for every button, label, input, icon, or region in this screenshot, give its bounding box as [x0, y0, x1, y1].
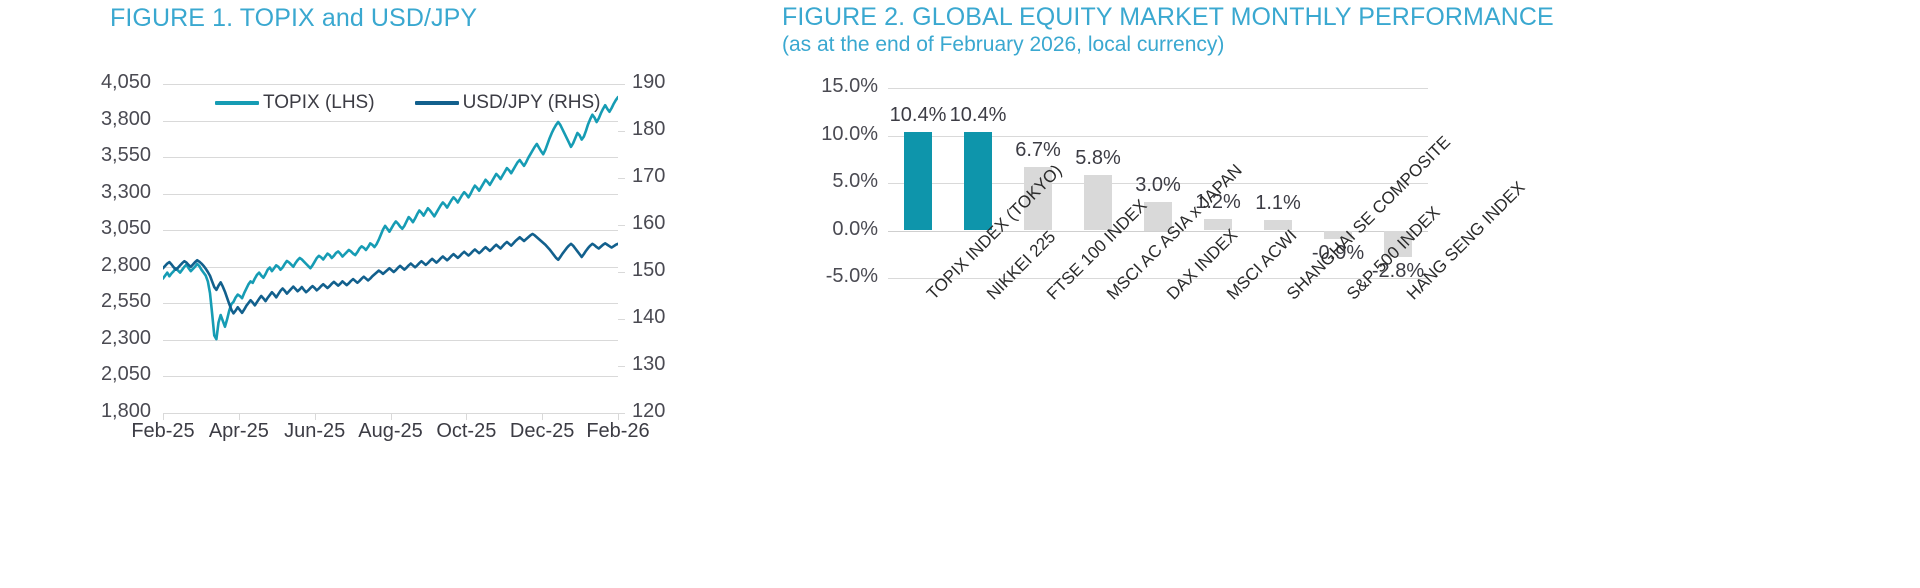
figure-1-panel: FIGURE 1. TOPIX and USD/JPY 4,0503,8003,… — [0, 0, 770, 588]
y-axis-tick-label: 10.0% — [770, 123, 878, 146]
y-axis-left-tick-label: 2,300 — [101, 327, 151, 350]
y-axis-left-tick-label: 3,800 — [101, 108, 151, 131]
y-axis-left-tick-label: 2,800 — [101, 254, 151, 277]
x-axis-tick — [163, 413, 164, 420]
legend-label-topix: TOPIX (LHS) — [263, 92, 375, 114]
bar-value-label: 10.4% — [933, 104, 1023, 127]
right-axis-tick — [618, 272, 625, 273]
topix-line — [163, 97, 618, 339]
x-axis-tick-label: Feb-26 — [563, 420, 673, 443]
y-axis-right-tick-label: 140 — [632, 306, 665, 329]
x-axis-tick — [466, 413, 467, 420]
y-axis-left-tick-label: 3,300 — [101, 181, 151, 204]
gridline — [888, 278, 1428, 279]
x-axis-tick — [391, 413, 392, 420]
y-axis-tick-label: 0.0% — [770, 218, 878, 241]
usdjpy-line — [163, 234, 618, 313]
y-axis-right-tick-label: 130 — [632, 353, 665, 376]
bar — [904, 132, 932, 231]
x-axis-tick — [315, 413, 316, 420]
legend-item-topix: TOPIX (LHS) — [215, 92, 375, 114]
y-axis-tick-label: 15.0% — [770, 75, 878, 98]
figure-1-series-svg — [163, 84, 618, 413]
bar-value-label: 5.8% — [1053, 147, 1143, 170]
x-axis-tick — [618, 413, 619, 420]
figure-1-plot-area — [163, 84, 618, 413]
global-equity-bar-chart: 15.0%10.0%5.0%0.0%-5.0% 10.4%10.4%6.7%5.… — [770, 0, 1920, 588]
y-axis-tick-label: -5.0% — [770, 265, 878, 288]
bar — [1084, 175, 1112, 230]
right-axis-tick — [618, 225, 625, 226]
y-axis-right-tick-label: 180 — [632, 118, 665, 141]
right-axis-tick — [618, 131, 625, 132]
figure-1-legend: TOPIX (LHS) USD/JPY (RHS) — [215, 92, 601, 114]
right-axis-tick — [618, 84, 625, 85]
y-axis-left-tick-label: 4,050 — [101, 71, 151, 94]
legend-swatch-topix — [215, 101, 259, 105]
figures-page: FIGURE 1. TOPIX and USD/JPY 4,0503,8003,… — [0, 0, 1920, 588]
right-axis-tick — [618, 319, 625, 320]
right-axis-tick — [618, 366, 625, 367]
y-axis-tick-label: 5.0% — [770, 170, 878, 193]
y-axis-left-tick-label: 2,050 — [101, 363, 151, 386]
y-axis-left-tick-label: 3,050 — [101, 217, 151, 240]
x-axis-tick — [239, 413, 240, 420]
legend-swatch-usdjpy — [415, 101, 459, 105]
y-axis-left-tick-label: 2,550 — [101, 290, 151, 313]
figure-2-panel: FIGURE 2. GLOBAL EQUITY MARKET MONTHLY P… — [770, 0, 1920, 588]
bar-value-label: 1.1% — [1233, 192, 1323, 215]
y-axis-right-tick-label: 150 — [632, 259, 665, 282]
y-axis-right-tick-label: 160 — [632, 212, 665, 235]
right-axis-tick — [618, 413, 625, 414]
legend-label-usdjpy: USD/JPY (RHS) — [463, 92, 601, 114]
topix-usdjpy-line-chart: 4,0503,8003,5503,3003,0502,8002,5502,300… — [0, 0, 770, 588]
y-axis-left-tick-label: 3,550 — [101, 144, 151, 167]
y-axis-right-tick-label: 170 — [632, 165, 665, 188]
right-axis-tick — [618, 178, 625, 179]
y-axis-right-tick-label: 190 — [632, 71, 665, 94]
x-axis-tick — [542, 413, 543, 420]
legend-item-usdjpy: USD/JPY (RHS) — [415, 92, 601, 114]
bar — [964, 132, 992, 231]
